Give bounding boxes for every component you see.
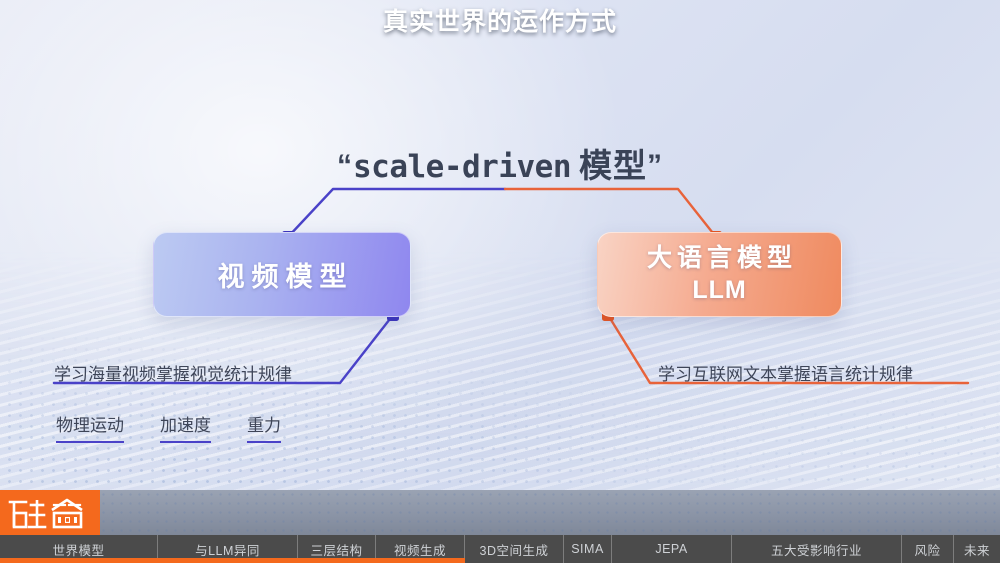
keyword-row: 物理运动 加速度 重力 — [56, 411, 281, 443]
connector-llm-top — [505, 189, 716, 237]
caption-llm: 学习互联网文本掌握语言统计规律 — [658, 360, 913, 385]
keyword-item: 加速度 — [160, 411, 211, 443]
headline-latin: scale-driven — [353, 149, 571, 185]
brand-logo — [0, 490, 100, 535]
quote-close: ” — [647, 149, 663, 182]
box-llm-title: 大语言模型 — [642, 244, 797, 274]
background-dot-texture — [0, 300, 1000, 493]
nav-item-industries[interactable]: 五大受影响行业 — [732, 535, 902, 563]
slide-canvas: “scale-driven模型” 视频模型 大语言模型 LLM 学习海量视频掌握… — [0, 0, 1000, 563]
guigu-101-logo-icon — [7, 496, 93, 530]
caption-video-model: 学习海量视频掌握视觉统计规律 — [54, 360, 292, 385]
keyword-item: 物理运动 — [56, 411, 124, 443]
nav-item-3d-space[interactable]: 3D空间生成 — [465, 535, 564, 563]
progress-bar — [0, 558, 465, 563]
nav-item-jepa[interactable]: JEPA — [612, 535, 732, 563]
caption-band-text: 真实世界的运作方式 — [0, 0, 1000, 45]
background-dot-texture-secondary — [380, 330, 1000, 503]
connector-lines — [0, 0, 1000, 563]
box-video-title: 视频模型 — [211, 255, 354, 294]
box-llm-subtitle: LLM — [692, 276, 746, 306]
keyword-item: 重力 — [247, 411, 281, 443]
nav-item-future[interactable]: 未来 — [954, 535, 1000, 563]
concept-box-llm[interactable]: 大语言模型 LLM — [597, 232, 842, 317]
logo-zero-counter — [66, 518, 69, 522]
concept-box-video-model[interactable]: 视频模型 — [153, 232, 411, 317]
caption-band — [0, 490, 1000, 535]
headline-cjk: 模型 — [579, 147, 647, 184]
slide-headline: “scale-driven模型” — [0, 139, 1000, 187]
background-glow — [0, 0, 640, 460]
quote-open: “ — [337, 149, 353, 182]
nav-item-risk[interactable]: 风险 — [902, 535, 954, 563]
nav-item-sima[interactable]: SIMA — [564, 535, 612, 563]
connector-video-top — [288, 189, 505, 237]
